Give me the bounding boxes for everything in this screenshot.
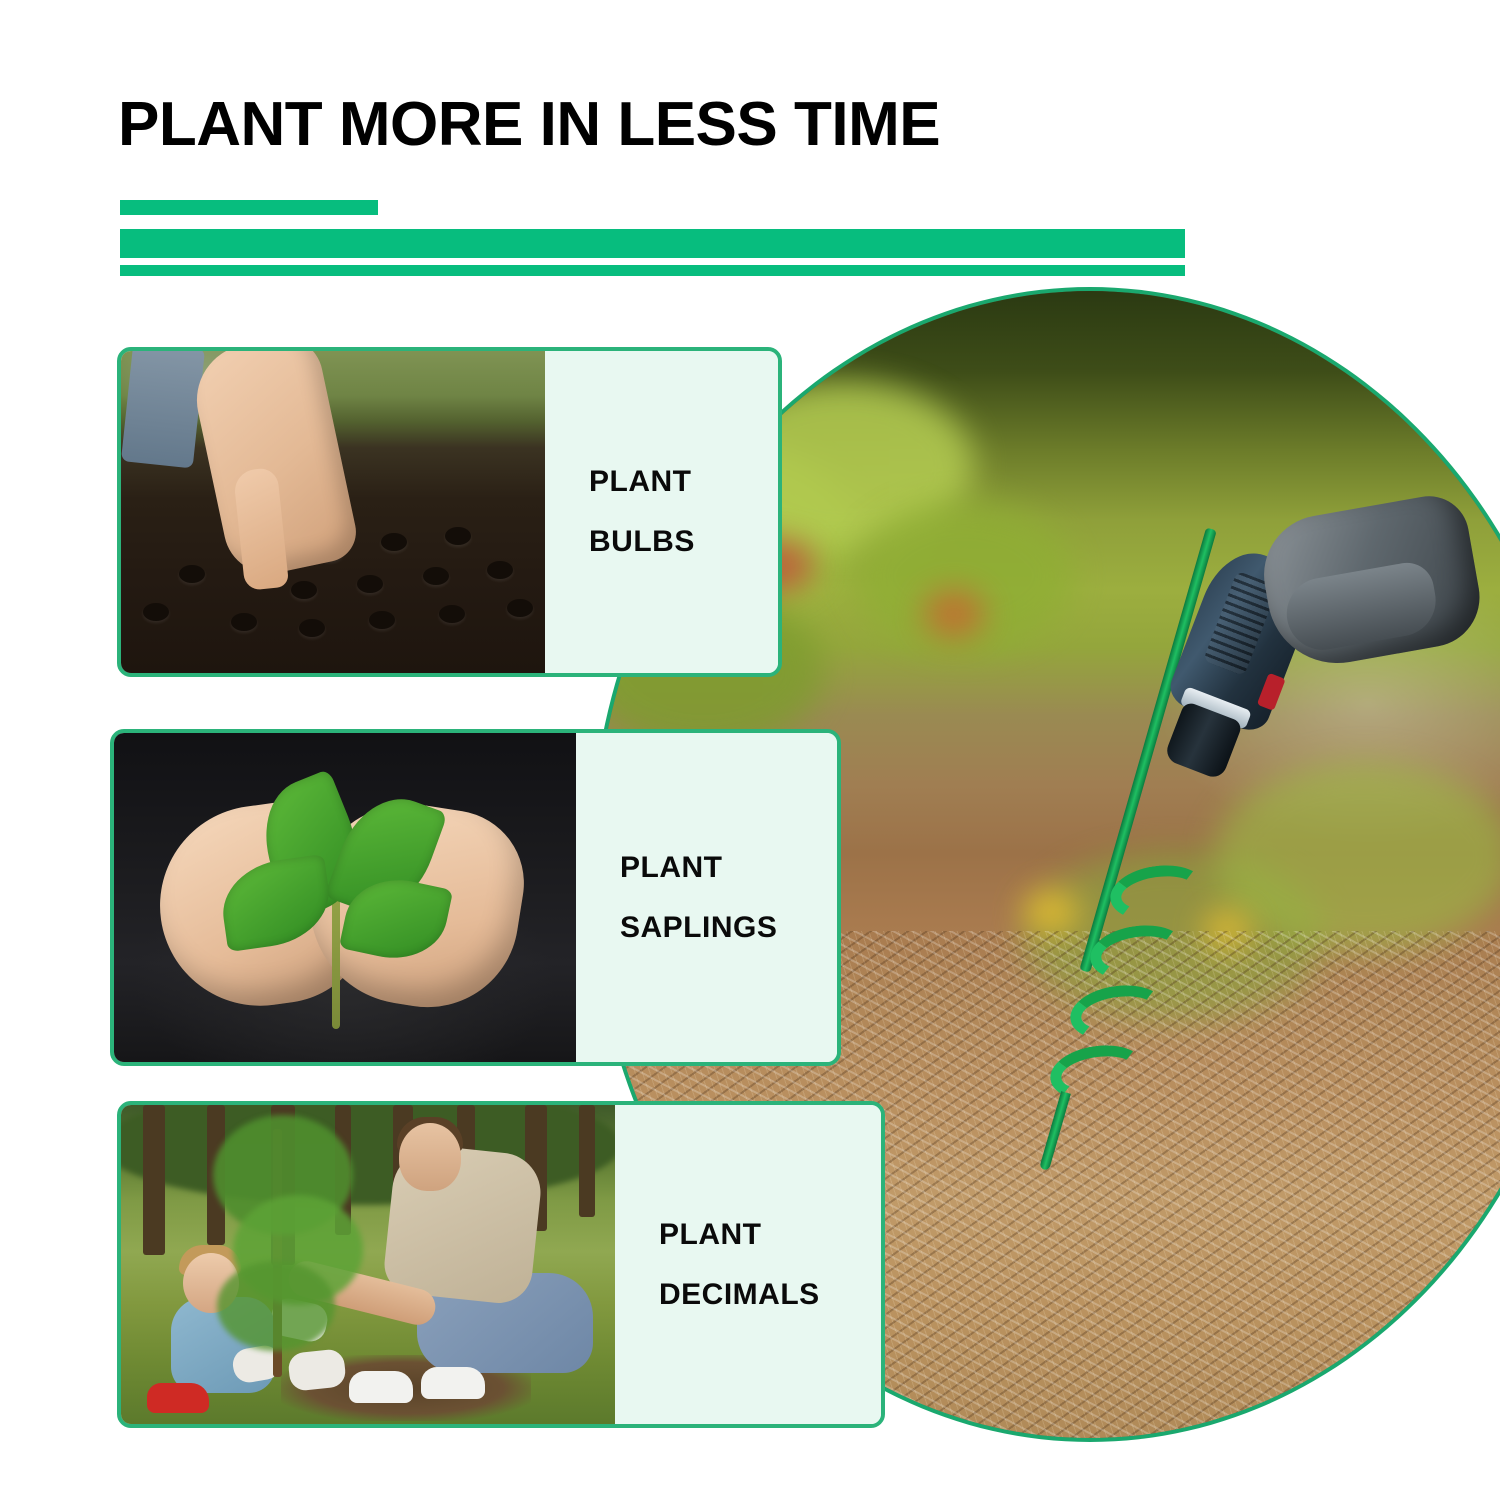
soil-hole (291, 581, 317, 599)
clothing-shape (121, 351, 205, 468)
card-photo-plant-decimals (121, 1105, 615, 1424)
accent-rule-long (120, 229, 1185, 258)
shoe (421, 1367, 485, 1399)
feature-card-plant-saplings[interactable]: PLANT SAPLINGS (110, 729, 841, 1066)
feature-card-plant-decimals[interactable]: PLANT DECIMALS (117, 1101, 885, 1428)
card-caption-line-1: PLANT (620, 838, 837, 898)
soil-hole (143, 603, 169, 621)
flower-blob (1024, 891, 1078, 933)
tree-trunk (579, 1105, 595, 1217)
soil-hole (445, 527, 471, 545)
card-caption-line-2: BULBS (589, 512, 778, 572)
sapling-canopy (217, 1261, 335, 1351)
soil-hole (179, 565, 205, 583)
tree-trunk (143, 1105, 165, 1255)
soil-hole (299, 619, 325, 637)
card-photo-plant-saplings (114, 733, 576, 1062)
shoe (147, 1383, 209, 1413)
soil-hole (369, 611, 395, 629)
soil-hole (231, 613, 257, 631)
page-title: PLANT MORE IN LESS TIME (118, 92, 940, 157)
berry-blob (924, 591, 984, 637)
card-caption-plant-decimals: PLANT DECIMALS (615, 1105, 881, 1424)
accent-rule-short (120, 200, 378, 215)
card-caption-line-1: PLANT (589, 452, 778, 512)
card-caption-line-1: PLANT (659, 1205, 881, 1265)
card-caption-plant-saplings: PLANT SAPLINGS (576, 733, 837, 1062)
soil-hole (507, 599, 533, 617)
card-caption-line-2: SAPLINGS (620, 898, 837, 958)
card-caption-plant-bulbs: PLANT BULBS (545, 351, 778, 673)
person-shape (399, 1123, 461, 1191)
foliage-blob (1214, 761, 1500, 951)
garden-glove (287, 1348, 347, 1392)
accent-rule-thin (120, 265, 1185, 276)
soil-hole (381, 533, 407, 551)
soil-hole (357, 575, 383, 593)
shoe (349, 1371, 413, 1403)
card-caption-line-2: DECIMALS (659, 1265, 881, 1325)
feature-card-plant-bulbs[interactable]: PLANT BULBS (117, 347, 782, 677)
soil-hole (487, 561, 513, 579)
card-photo-plant-bulbs (121, 351, 545, 673)
soil-hole (439, 605, 465, 623)
soil-hole (423, 567, 449, 585)
